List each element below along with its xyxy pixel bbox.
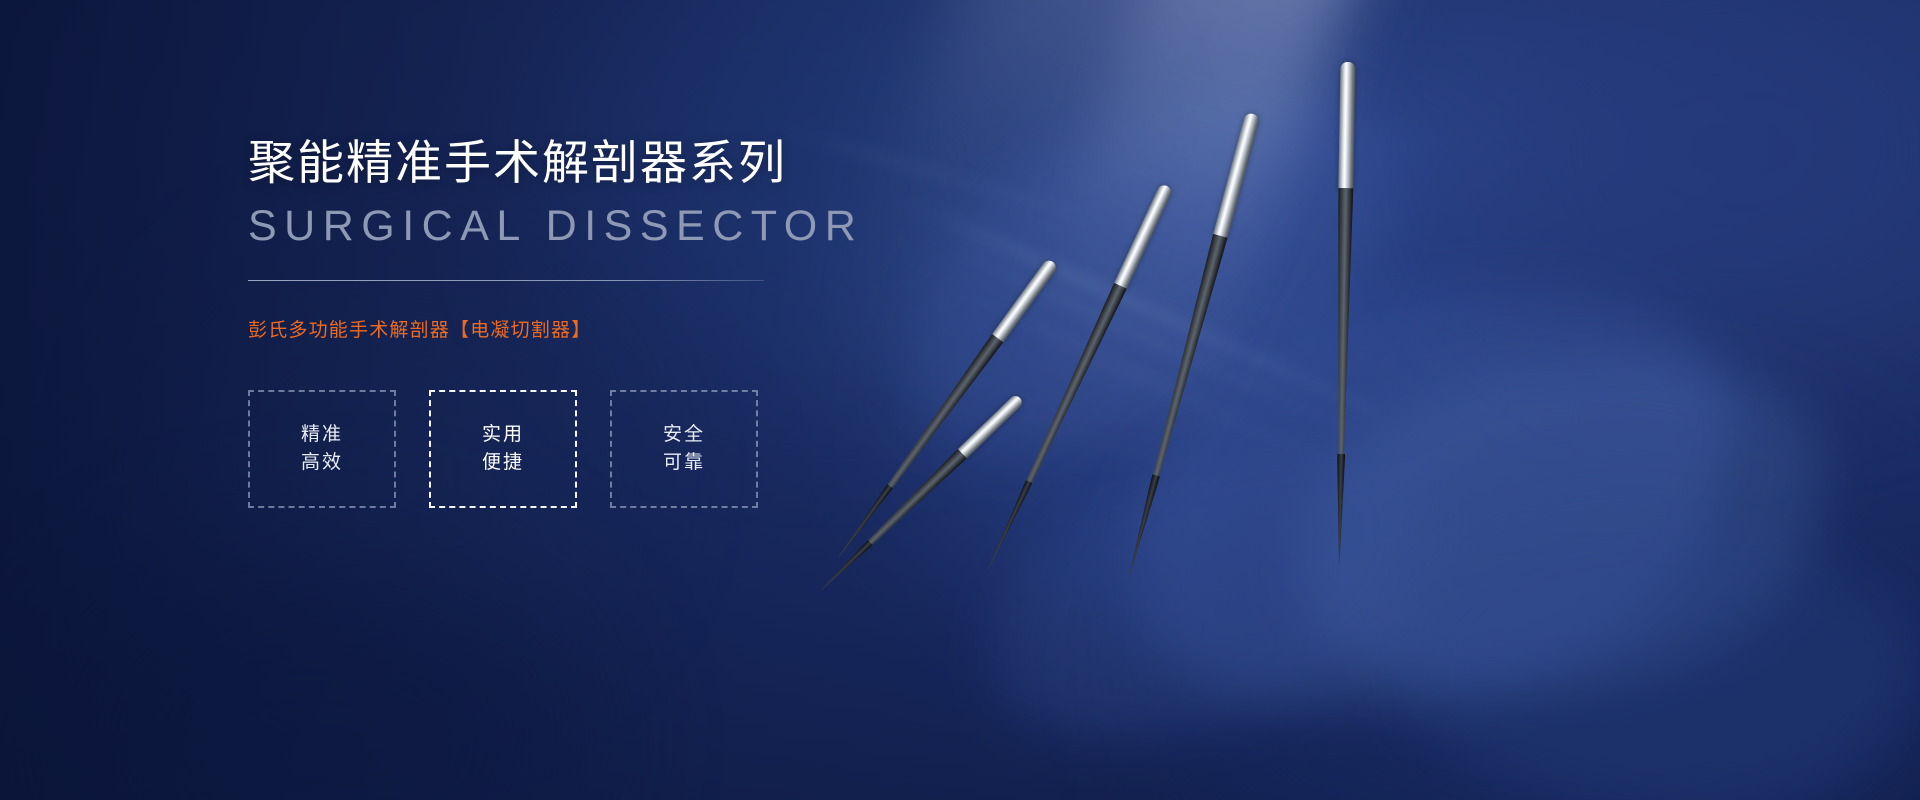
page-title: 聚能精准手术解剖器系列 <box>248 134 888 191</box>
feature-line-2: 高效 <box>301 453 343 472</box>
banner-content: 聚能精准手术解剖器系列 SURGICAL DISSECTOR 彭氏多功能手术解剖… <box>248 134 888 508</box>
hero-banner: 聚能精准手术解剖器系列 SURGICAL DISSECTOR 彭氏多功能手术解剖… <box>0 0 1920 800</box>
page-title-english: SURGICAL DISSECTOR <box>248 203 888 250</box>
feature-line-1: 实用 <box>482 425 524 444</box>
feature-box-precision: 精准 高效 <box>248 390 396 508</box>
product-subtitle: 彭氏多功能手术解剖器【电凝切割器】 <box>248 315 888 342</box>
feature-box-practical: 实用 便捷 <box>429 390 577 508</box>
feature-line-2: 便捷 <box>482 453 524 472</box>
feature-line-1: 安全 <box>663 425 705 444</box>
feature-line-2: 可靠 <box>663 453 705 472</box>
feature-line-1: 精准 <box>301 425 343 444</box>
divider <box>248 280 764 281</box>
feature-box-safety: 安全 可靠 <box>610 390 758 508</box>
feature-box-group: 精准 高效 实用 便捷 安全 可靠 <box>248 390 888 508</box>
